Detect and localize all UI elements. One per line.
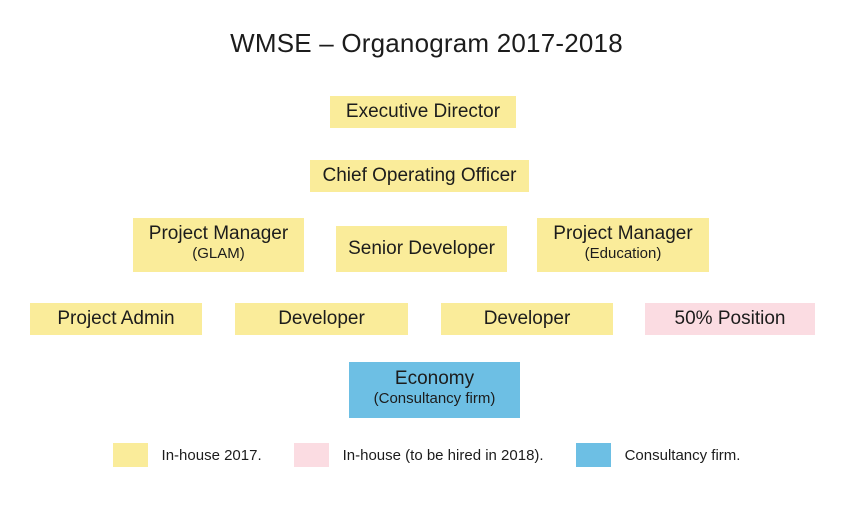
legend: In-house 2017. In-house (to be hired in … bbox=[0, 443, 853, 467]
org-node-executive-director: Executive Director bbox=[330, 96, 516, 128]
org-node-label: Project Admin bbox=[57, 308, 174, 329]
legend-label: In-house (to be hired in 2018). bbox=[343, 447, 544, 464]
legend-swatch-blue bbox=[576, 443, 611, 467]
page-title: WMSE – Organogram 2017-2018 bbox=[0, 28, 853, 59]
org-node-sublabel: (GLAM) bbox=[192, 246, 245, 263]
org-node-senior-developer: Senior Developer bbox=[336, 226, 507, 272]
organogram-diagram: WMSE – Organogram 2017-2018 Executive Di… bbox=[0, 0, 853, 512]
org-node-project-admin: Project Admin bbox=[30, 303, 202, 335]
legend-item-in-house-2017: In-house 2017. bbox=[113, 443, 262, 467]
org-node-developer-2: Developer bbox=[441, 303, 613, 335]
org-node-label: Project Manager bbox=[149, 223, 288, 244]
org-node-label: Economy bbox=[395, 368, 474, 389]
legend-item-to-be-hired-2018: In-house (to be hired in 2018). bbox=[294, 443, 544, 467]
org-node-project-manager-glam: Project Manager (GLAM) bbox=[133, 218, 304, 272]
org-node-developer-1: Developer bbox=[235, 303, 408, 335]
legend-label: In-house 2017. bbox=[162, 447, 262, 464]
org-node-economy: Economy (Consultancy firm) bbox=[349, 362, 520, 418]
org-node-label: Executive Director bbox=[346, 101, 500, 122]
org-node-50-percent-position: 50% Position bbox=[645, 303, 815, 335]
org-node-label: Senior Developer bbox=[348, 238, 495, 259]
legend-swatch-yellow bbox=[113, 443, 148, 467]
legend-item-consultancy-firm: Consultancy firm. bbox=[576, 443, 741, 467]
org-node-label: Project Manager bbox=[553, 223, 692, 244]
legend-label: Consultancy firm. bbox=[625, 447, 741, 464]
org-node-label: Developer bbox=[484, 308, 571, 329]
legend-swatch-pink bbox=[294, 443, 329, 467]
org-node-sublabel: (Education) bbox=[585, 246, 662, 263]
org-node-label: Chief Operating Officer bbox=[323, 165, 517, 186]
org-node-project-manager-education: Project Manager (Education) bbox=[537, 218, 709, 272]
org-node-label: Developer bbox=[278, 308, 365, 329]
org-node-sublabel: (Consultancy firm) bbox=[374, 391, 496, 408]
org-node-chief-operating-officer: Chief Operating Officer bbox=[310, 160, 529, 192]
org-node-label: 50% Position bbox=[675, 308, 786, 329]
